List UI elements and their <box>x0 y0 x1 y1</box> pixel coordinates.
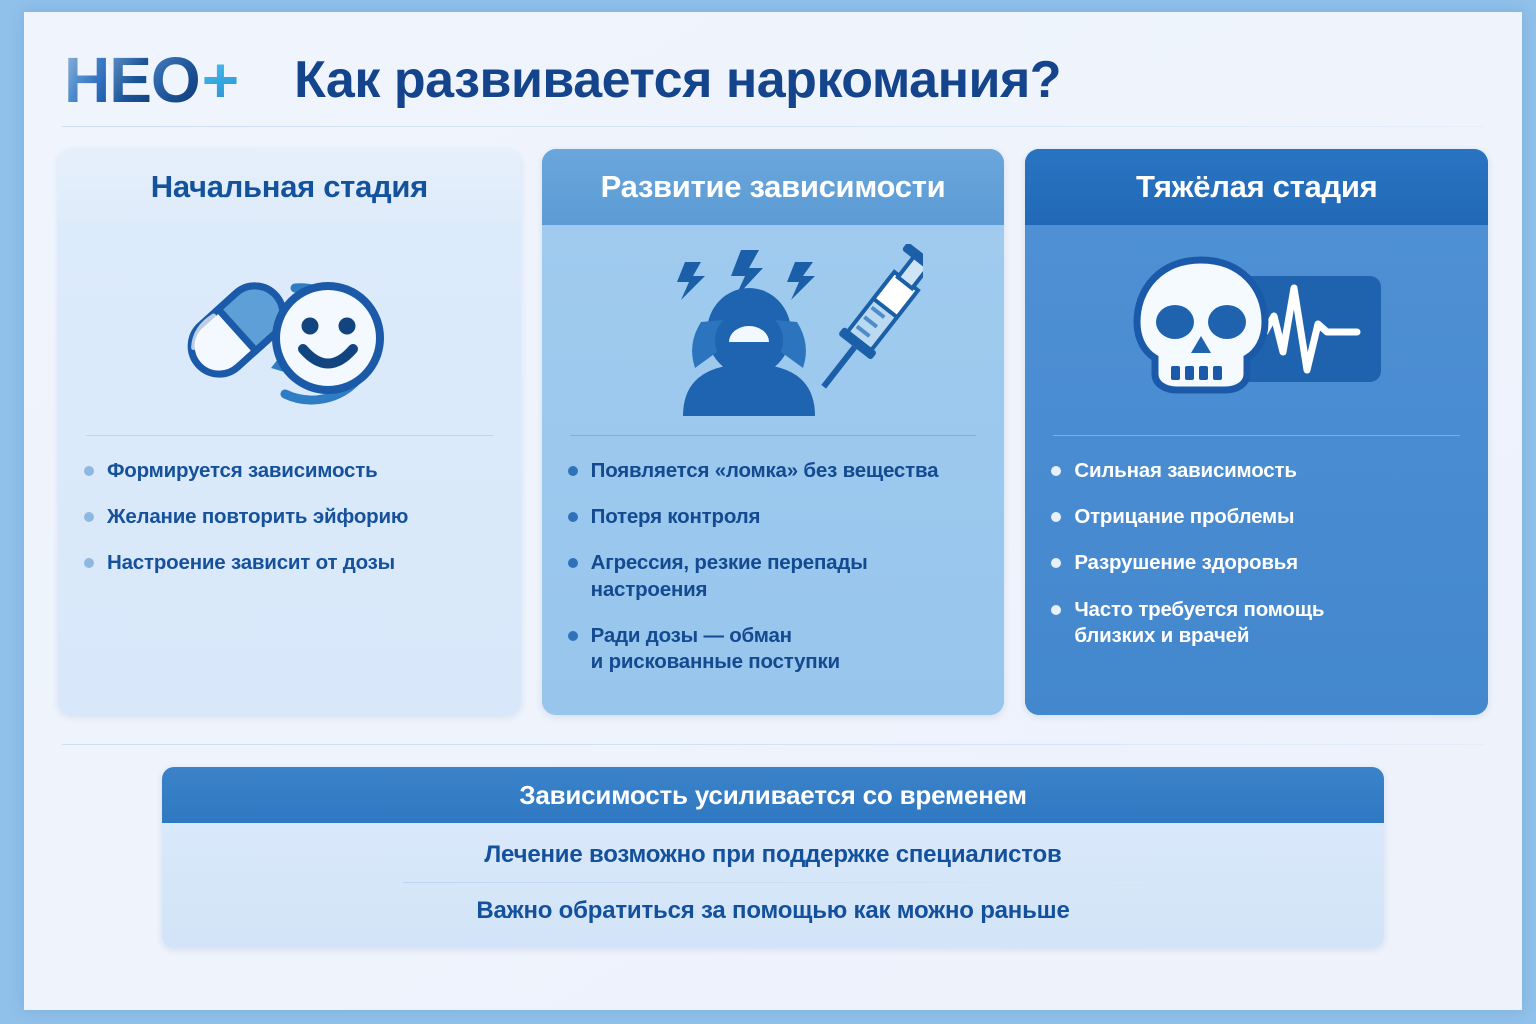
bottom-divider <box>62 744 1484 745</box>
list-item: Часто требуется помощь близких и врачей <box>1051 597 1462 649</box>
list-item: Сильная зависимость <box>1051 458 1462 484</box>
bullet-dot-icon <box>568 631 578 641</box>
list-item: Желание повторить эйфорию <box>84 504 495 530</box>
bullet-dot-icon <box>568 558 578 568</box>
poster-frame: Н Е О + Как развивается наркомания? Нача… <box>0 0 1536 1024</box>
bullet-text: Потеря контроля <box>591 504 761 530</box>
stage-card-initial: Начальная стадия <box>58 149 521 715</box>
bullet-dot-icon <box>568 466 578 476</box>
summary-body: Лечение возможно при поддержке специалис… <box>162 823 1384 948</box>
list-item: Потеря контроля <box>568 504 979 530</box>
bullet-list-developing: Появляется «ломка» без вещества Потеря к… <box>542 436 1005 695</box>
list-item: Ради дозы — обман и рискованные поступки <box>568 623 979 675</box>
list-item: Формируется зависимость <box>84 458 495 484</box>
bullet-text: Желание повторить эйфорию <box>107 504 408 530</box>
summary-row: Лечение возможно при поддержке специалис… <box>162 827 1384 882</box>
card-body-developing: Появляется «ломка» без вещества Потеря к… <box>542 225 1005 715</box>
bullet-dot-icon <box>84 466 94 476</box>
header-divider <box>62 126 1484 127</box>
bullet-list-severe: Сильная зависимость Отрицание проблемы Р… <box>1025 436 1488 669</box>
bullet-text: Настроение зависит от дозы <box>107 550 395 576</box>
bullet-dot-icon <box>84 512 94 522</box>
poster-sheet: Н Е О + Как развивается наркомания? Нача… <box>24 12 1522 1010</box>
logo-letter-n: Н <box>64 48 109 112</box>
page-title: Как развивается наркомания? <box>294 50 1061 110</box>
bullet-text: Формируется зависимость <box>107 458 378 484</box>
bullet-text: Ради дозы — обман и рискованные поступки <box>591 623 840 675</box>
card-body-severe: Сильная зависимость Отрицание проблемы Р… <box>1025 225 1488 715</box>
summary-row: Важно обратиться за помощью как можно ра… <box>162 883 1384 938</box>
summary-headline: Зависимость усиливается со временем <box>162 767 1384 823</box>
stage-card-severe: Тяжёлая стадия <box>1025 149 1488 715</box>
bullet-dot-icon <box>1051 558 1061 568</box>
list-item: Агрессия, резкие перепады настроения <box>568 550 979 602</box>
neo-plus-logo: Н Е О + <box>64 48 238 112</box>
card-title-developing: Развитие зависимости <box>542 149 1005 225</box>
list-item: Разрушение здоровья <box>1051 550 1462 576</box>
list-item: Настроение зависит от дозы <box>84 550 495 576</box>
logo-letter-e: Е <box>109 48 151 112</box>
page-header: Н Е О + Как развивается наркомания? <box>58 34 1488 126</box>
bullet-text: Отрицание проблемы <box>1074 504 1294 530</box>
stage-card-developing: Развитие зависимости <box>542 149 1005 715</box>
bullet-list-initial: Формируется зависимость Желание повторит… <box>58 436 521 597</box>
summary-panel: Зависимость усиливается со временем Лече… <box>162 767 1384 948</box>
bullet-dot-icon <box>1051 605 1061 615</box>
logo-plus-icon: + <box>202 48 238 112</box>
stressed-person-syringe-icon <box>542 225 1005 435</box>
card-title-initial: Начальная стадия <box>58 149 521 225</box>
card-body-initial: Формируется зависимость Желание повторит… <box>58 225 521 715</box>
bullet-dot-icon <box>1051 512 1061 522</box>
bullet-text: Разрушение здоровья <box>1074 550 1298 576</box>
bullet-text: Появляется «ломка» без вещества <box>591 458 939 484</box>
bullet-dot-icon <box>568 512 578 522</box>
bullet-text: Агрессия, резкие перепады настроения <box>591 550 979 602</box>
bullet-dot-icon <box>84 558 94 568</box>
skull-ecg-icon <box>1025 225 1488 435</box>
list-item: Отрицание проблемы <box>1051 504 1462 530</box>
bullet-dot-icon <box>1051 466 1061 476</box>
list-item: Появляется «ломка» без вещества <box>568 458 979 484</box>
card-title-severe: Тяжёлая стадия <box>1025 149 1488 225</box>
logo-letter-o: О <box>151 48 200 112</box>
bullet-text: Сильная зависимость <box>1074 458 1296 484</box>
stage-cards: Начальная стадия <box>58 149 1488 715</box>
bullet-text: Часто требуется помощь близких и врачей <box>1074 597 1324 649</box>
pill-smiley-cycle-icon <box>58 225 521 435</box>
